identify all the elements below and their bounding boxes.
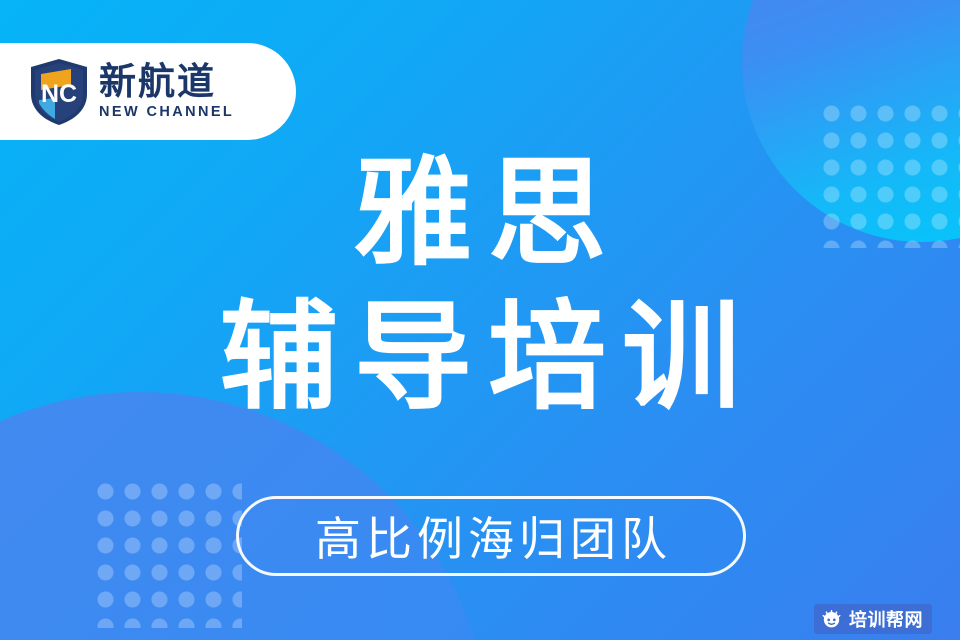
shield-nc-icon: NC <box>28 58 90 126</box>
headline-block: 雅思 辅导培训 <box>0 148 960 424</box>
promo-banner: NC 新航道 NEW CHANNEL 雅思 辅导培训 高比例海归团队 <box>0 0 960 640</box>
subtitle-pill: 高比例海归团队 <box>236 496 746 576</box>
dot-grid-bottom-left <box>92 478 242 628</box>
logo-brand-en: NEW CHANNEL <box>99 105 234 120</box>
headline-line-1: 雅思 <box>0 148 960 280</box>
logo-plate: NC 新航道 NEW CHANNEL <box>0 43 296 140</box>
logo-brand-cn: 新航道 <box>99 63 234 100</box>
sun-face-icon <box>821 609 842 630</box>
svg-text:NC: NC <box>41 80 77 108</box>
headline-line-2: 辅导培训 <box>0 292 960 424</box>
watermark-badge: 培训帮网 <box>814 604 932 634</box>
subtitle-text: 高比例海归团队 <box>310 503 672 569</box>
logo-wordmark: 新航道 NEW CHANNEL <box>99 63 234 120</box>
watermark-text: 培训帮网 <box>849 606 923 632</box>
